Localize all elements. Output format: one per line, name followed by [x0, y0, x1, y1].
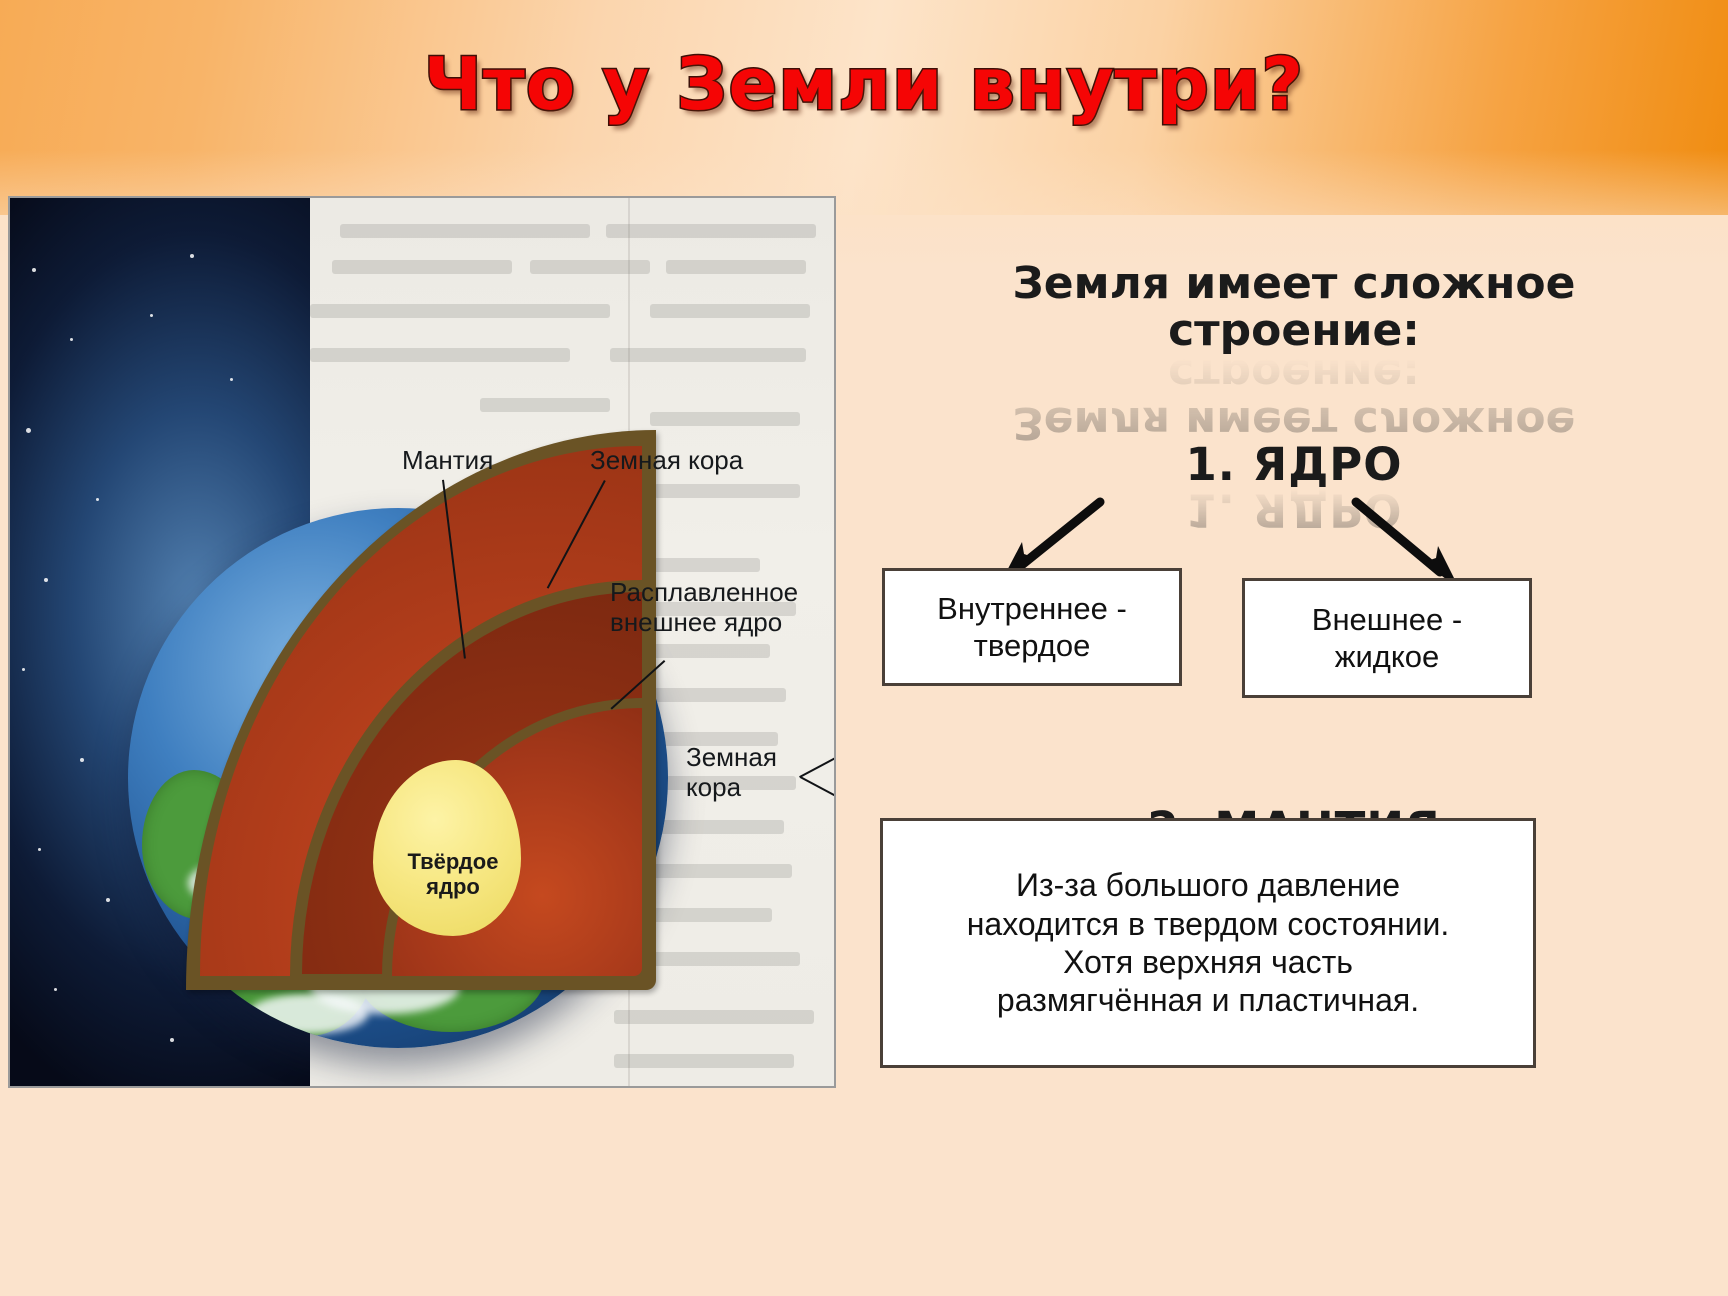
inner-core-box-text: Внутреннее - твердое [937, 590, 1127, 664]
outer-core-box-text: Внешнее - жидкое [1312, 601, 1462, 675]
core-section-title-text: 1. ЯДРО [1185, 438, 1402, 491]
label-crust-right: Земная кора [686, 743, 777, 803]
earth-cutaway-illustration: Твёрдое ядро Мантия Земная кора Расплавл… [8, 196, 836, 1088]
explanation-column: Земля имеет сложное строение: Земля имее… [872, 196, 1716, 1096]
label-crust-top: Земная кора [590, 446, 743, 476]
label-mantle: Мантия [402, 446, 493, 476]
page-title: Что у Земли внутри? [0, 48, 1728, 120]
earth-model: Твёрдое ядро [128, 430, 688, 1070]
label-molten-outer-core: Расплавленное внешнее ядро [610, 578, 798, 638]
mantle-description-text: Из-за большого давление находится в твер… [967, 866, 1450, 1020]
inner-core-box: Внутреннее - твердое [882, 568, 1182, 686]
label-solid-core: Твёрдое ядро [378, 850, 528, 899]
slide-canvas: Что у Земли внутри? [0, 0, 1728, 1296]
section-heading-text: Земля имеет сложное строение: [1013, 258, 1576, 357]
outer-core-box: Внешнее - жидкое [1242, 578, 1532, 698]
mantle-description-box: Из-за большого давление находится в твер… [880, 818, 1536, 1068]
